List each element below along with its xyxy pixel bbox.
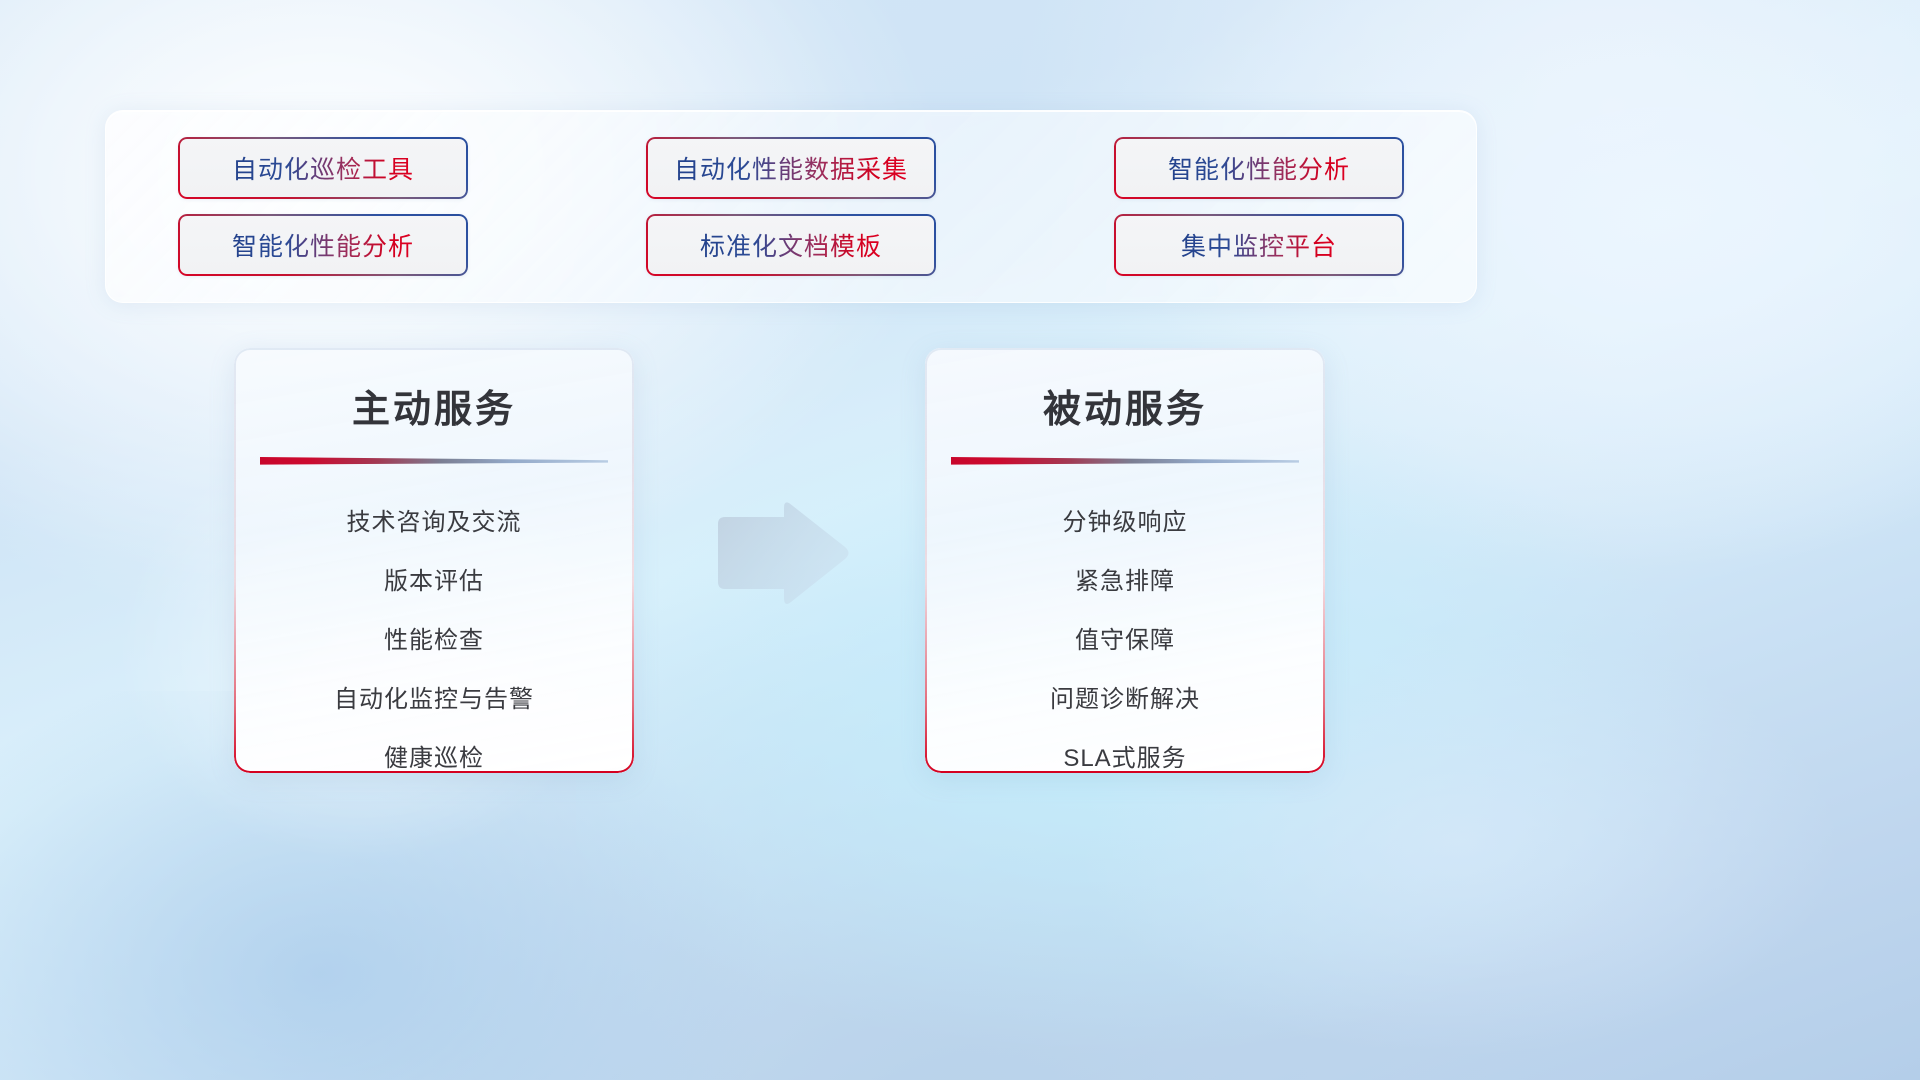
capability-tag-label: 集中监控平台 xyxy=(1181,227,1337,263)
capability-tag-label: 自动化巡检工具 xyxy=(232,150,414,186)
service-item: 值守保障 xyxy=(925,611,1325,670)
capability-tags-panel: 自动化巡检工具 自动化性能数据采集 智能化性能分析 智能化性能分析 标准化文档模… xyxy=(105,110,1477,303)
flow-arrow xyxy=(712,498,852,613)
capability-tag-row: 智能化性能分析 标准化文档模板 集中监控平台 xyxy=(178,214,1404,276)
service-item: 问题诊断解决 xyxy=(925,670,1325,729)
service-card-passive: 被动服务 分钟级响应 紧急排障 值守保障 问题诊断解决 SLA式服务 xyxy=(925,348,1325,773)
capability-tag-label: 自动化性能数据采集 xyxy=(674,150,908,186)
gradient-divider-icon xyxy=(260,455,608,467)
service-item: 分钟级响应 xyxy=(925,493,1325,552)
capability-tag[interactable]: 自动化性能数据采集 xyxy=(646,137,936,199)
capability-tag[interactable]: 智能化性能分析 xyxy=(1114,137,1404,199)
service-item: 性能检查 xyxy=(234,611,634,670)
service-card-active: 主动服务 技术咨询及交流 版本评估 性能检查 自动化监控与告警 健康巡检 xyxy=(234,348,634,773)
service-item: SLA式服务 xyxy=(925,729,1325,773)
capability-tag[interactable]: 标准化文档模板 xyxy=(646,214,936,276)
service-card-title: 主动服务 xyxy=(234,378,634,433)
service-card-title: 被动服务 xyxy=(925,378,1325,433)
card-divider xyxy=(260,455,608,467)
service-item-list: 技术咨询及交流 版本评估 性能检查 自动化监控与告警 健康巡检 xyxy=(234,493,634,773)
capability-tag-label: 智能化性能分析 xyxy=(1168,150,1350,186)
capability-tag[interactable]: 自动化巡检工具 xyxy=(178,137,468,199)
service-item: 版本评估 xyxy=(234,552,634,611)
capability-tag-row: 自动化巡检工具 自动化性能数据采集 智能化性能分析 xyxy=(178,137,1404,199)
capability-tag-label: 标准化文档模板 xyxy=(700,227,882,263)
service-item: 健康巡检 xyxy=(234,729,634,773)
card-divider xyxy=(951,455,1299,467)
capability-tag[interactable]: 集中监控平台 xyxy=(1114,214,1404,276)
gradient-divider-icon xyxy=(951,455,1299,467)
service-item: 自动化监控与告警 xyxy=(234,670,634,729)
service-item: 技术咨询及交流 xyxy=(234,493,634,552)
service-item: 紧急排障 xyxy=(925,552,1325,611)
service-item-list: 分钟级响应 紧急排障 值守保障 问题诊断解决 SLA式服务 xyxy=(925,493,1325,773)
arrow-right-icon xyxy=(712,498,852,613)
capability-tag[interactable]: 智能化性能分析 xyxy=(178,214,468,276)
capability-tag-label: 智能化性能分析 xyxy=(232,227,414,263)
